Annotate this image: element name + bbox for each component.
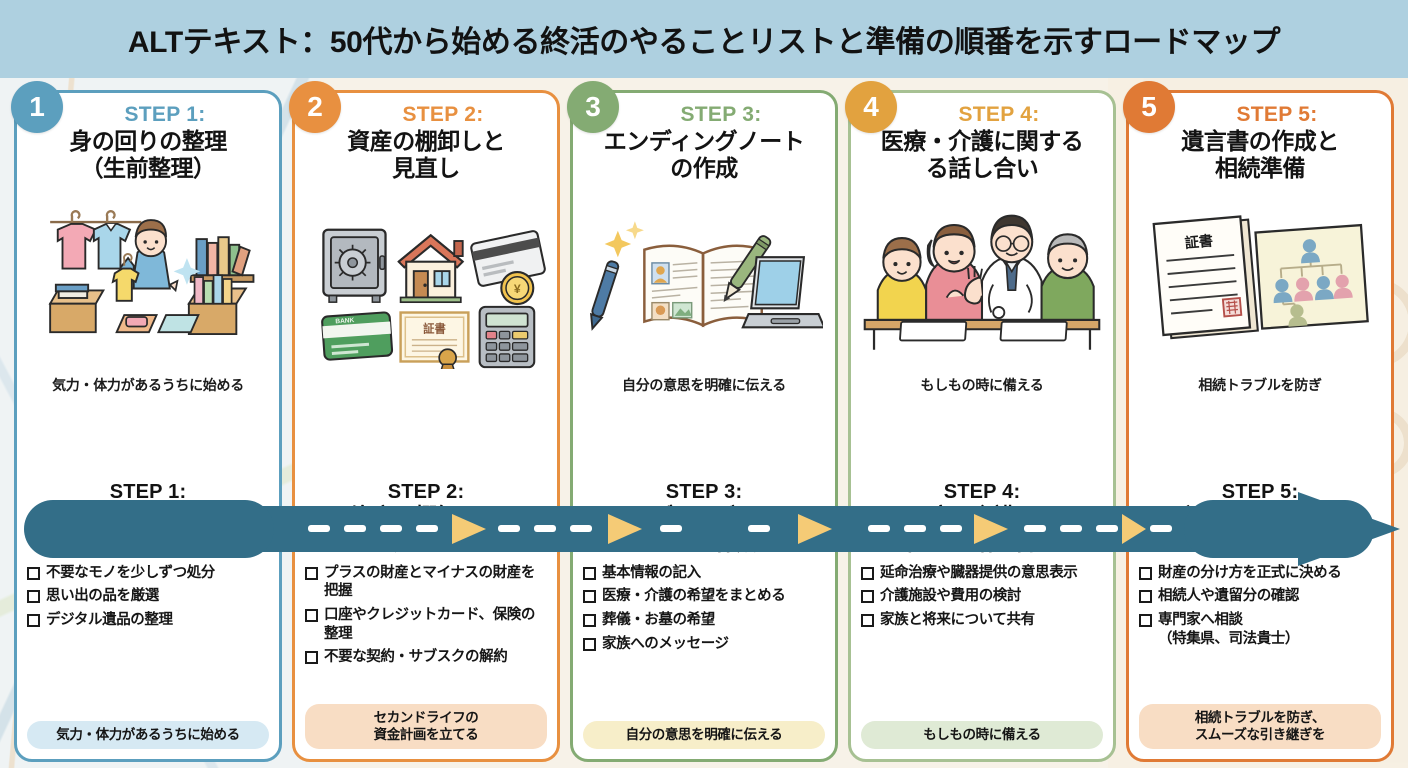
- checkbox-icon[interactable]: [1139, 614, 1152, 627]
- check-label: 介護施設や費用の検討: [880, 587, 1021, 606]
- band-gap-2: [295, 403, 557, 475]
- step-pill-4: もしもの時に備える: [861, 721, 1103, 749]
- timeline-start-small: (NOW): [32, 535, 142, 550]
- check-item[interactable]: デジタル遺品の整理: [27, 611, 269, 630]
- timeline-start-big: 50代: [32, 505, 142, 532]
- checklist-2: プラスの財産とマイナスの財産を把握 口座やクレジットカード、保険の整理 不要な契…: [305, 564, 547, 704]
- step-card-5[interactable]: 5 STEP 5: 遺言書の作成と 相続準備 証書: [1126, 90, 1394, 762]
- checkbox-icon[interactable]: [861, 614, 874, 627]
- step-bottom-4: STEP 4: 医療・介護にに 関する話し合い 延命治療や臓器提供の意思表示 介…: [851, 475, 1113, 759]
- header-banner: ALTテキスト：50代から始める終活のやることリストと準備の順番を示すロードマッ…: [0, 0, 1408, 78]
- checkbox-icon[interactable]: [27, 590, 40, 603]
- check-label: 口座やクレジットカード、保険の整理: [324, 606, 547, 643]
- timeline-start-label: 50代 (NOW): [32, 505, 142, 550]
- step-pill-1: 気力・体力があるうちに始める: [27, 721, 269, 749]
- svg-text:証書: 証書: [1184, 232, 1214, 251]
- step-top-3: STEP 3: エンディングノート の作成: [573, 93, 835, 403]
- checkbox-icon[interactable]: [583, 614, 596, 627]
- bottom-title-2: 資産の棚卸しと 見直し: [305, 504, 547, 556]
- step-pill-2: セカンドライフの 資金計画を立てる: [305, 704, 547, 749]
- bottom-kicker-4: STEP 4:: [861, 481, 1103, 504]
- checklist-5: 財産の分け方を正式に決める 相続人や遺留分の確認 専門家へ相談 （特集県、司法貴…: [1139, 564, 1381, 704]
- checkbox-icon[interactable]: [583, 638, 596, 651]
- check-label: 不要なモノを少しずつ処分: [46, 564, 215, 583]
- step-number-badge-5: 5: [1123, 81, 1175, 133]
- step-title-2: 資産の棚卸しと 見直し: [347, 128, 505, 182]
- check-label: 財産の分け方を正式に決める: [1158, 564, 1341, 583]
- check-item[interactable]: 医療・介護の希望をまとめる: [583, 587, 825, 606]
- step-kicker-4: STEP 4:: [958, 103, 1039, 127]
- checklist-1: 不要なモノを少しずつ処分 思い出の品を厳選 デジタル遺品の整理: [27, 564, 269, 721]
- check-item[interactable]: 相続人や遺留分の確認: [1139, 587, 1381, 606]
- check-item[interactable]: 思い出の品を厳選: [27, 587, 269, 606]
- check-item[interactable]: 葬儀・お墓の希望: [583, 611, 825, 630]
- step-top-1: STEP 1: 身の回りの整理 （生前整理）: [17, 93, 279, 403]
- checkbox-icon[interactable]: [27, 567, 40, 580]
- check-label: 医療・介護の希望をまとめる: [602, 587, 785, 606]
- step-title-3: エンディングノート の作成: [604, 128, 804, 182]
- check-label: 延命治療や臓器提供の意思表示: [880, 564, 1077, 583]
- step-number-badge-3: 3: [567, 81, 619, 133]
- will-inheritance-icon: 証書: [1137, 182, 1383, 375]
- assets-icon: ¥ BANK 証書: [303, 182, 549, 395]
- step-top-4: STEP 4: 医療・介護に関する る話し合い: [851, 93, 1113, 403]
- check-label: 専門家へ相談 （特集県、司法貴士）: [1158, 611, 1299, 648]
- step-card-4[interactable]: 4 STEP 4: 医療・介護に関する る話し合い: [848, 90, 1116, 762]
- checkbox-icon[interactable]: [583, 590, 596, 603]
- step-card-3[interactable]: 3 STEP 3: エンディングノート の作成: [570, 90, 838, 762]
- check-item[interactable]: 家族と将来について共有: [861, 611, 1103, 630]
- step-bottom-2: STEP 2: 資産の棚卸しと 見直し プラスの財産とマイナスの財産を把握 口座…: [295, 475, 557, 759]
- step-number-badge-2: 2: [289, 81, 341, 133]
- checkbox-icon[interactable]: [305, 567, 318, 580]
- step-kicker-3: STEP 3:: [680, 103, 761, 127]
- step-pill-3: 自分の意思を明確に伝える: [583, 721, 825, 749]
- checkbox-icon[interactable]: [305, 651, 318, 664]
- timeline-end-big: 60代〜: [1215, 505, 1335, 532]
- step-card-1[interactable]: 1 STEP 1: 身の回りの整理 （生前整理）: [14, 90, 282, 762]
- bottom-kicker-5: STEP 5:: [1139, 481, 1381, 504]
- checkbox-icon[interactable]: [1139, 567, 1152, 580]
- step-top-5: STEP 5: 遺言書の作成と 相続準備 証書: [1129, 93, 1391, 403]
- check-label: 家族へのメッセージ: [602, 635, 729, 654]
- check-label: デジタル遺品の整理: [46, 611, 173, 630]
- check-label: 基本情報の記入: [602, 564, 701, 583]
- checkbox-icon[interactable]: [1139, 590, 1152, 603]
- timeline-end-label: 60代〜 (FUTURE): [1215, 505, 1335, 550]
- step-card-2[interactable]: 2 STEP 2: 資産の棚卸しと 見直し: [292, 90, 560, 762]
- ending-note-icon: [581, 182, 827, 375]
- bottom-kicker-2: STEP 2:: [305, 481, 547, 504]
- check-item[interactable]: 財産の分け方を正式に決める: [1139, 564, 1381, 583]
- check-item[interactable]: 専門家へ相談 （特集県、司法貴士）: [1139, 611, 1381, 648]
- step-top-caption-1: 気力・体力があるうちに始める: [52, 375, 244, 399]
- page-title: ALTテキスト：50代から始める終活のやることリストと準備の順番を示すロードマッ…: [128, 17, 1280, 61]
- check-item[interactable]: 介護施設や費用の検討: [861, 587, 1103, 606]
- infographic-root: ALTテキスト：50代から始める終活のやることリストと準備の順番を示すロードマッ…: [0, 0, 1408, 768]
- step-top-caption-3: 自分の意思を明確に伝える: [622, 375, 786, 399]
- timeline-middle-label: 準備の順番: [590, 519, 790, 549]
- checklist-4: 延命治療や臓器提供の意思表示 介護施設や費用の検討 家族と将来について共有: [861, 564, 1103, 721]
- check-item[interactable]: 不要な契約・サブスクの解約: [305, 648, 547, 667]
- band-gap-1: [17, 403, 279, 475]
- check-item[interactable]: 基本情報の記入: [583, 564, 825, 583]
- step-top-caption-5: 相続トラブルを防ぎ: [1198, 375, 1321, 399]
- check-item[interactable]: 口座やクレジットカード、保険の整理: [305, 606, 547, 643]
- bottom-kicker-1: STEP 1:: [27, 481, 269, 504]
- step-kicker-2: STEP 2:: [402, 103, 483, 127]
- check-item[interactable]: 不要なモノを少しずつ処分: [27, 564, 269, 583]
- checkbox-icon[interactable]: [27, 614, 40, 627]
- step-top-2: STEP 2: 資産の棚卸しと 見直し: [295, 93, 557, 403]
- step-bottom-3: STEP 3: エンディングノート ートの作成 基本情報の記入 医療・介護の希望…: [573, 475, 835, 759]
- checkbox-icon[interactable]: [583, 567, 596, 580]
- step-title-1: 身の回りの整理 （生前整理）: [69, 128, 227, 182]
- check-label: 思い出の品を厳選: [46, 587, 159, 606]
- step-top-caption-4: もしもの時に備える: [921, 375, 1044, 399]
- family-doctor-icon: [859, 182, 1105, 375]
- svg-text:証書: 証書: [423, 321, 446, 335]
- band-gap-3: [573, 403, 835, 475]
- bottom-title-4: 医療・介護にに 関する話し合い: [861, 504, 1103, 556]
- step-kicker-5: STEP 5:: [1236, 103, 1317, 127]
- step-pill-5: 相続トラブルを防ぎ、 スムーズな引き継ぎを: [1139, 704, 1381, 749]
- band-gap-5: [1129, 403, 1391, 475]
- bottom-kicker-3: STEP 3:: [583, 481, 825, 504]
- check-label: 葬儀・お墓の希望: [602, 611, 715, 630]
- steps-container: 1 STEP 1: 身の回りの整理 （生前整理）: [0, 78, 1408, 768]
- step-title-4: 医療・介護に関する る話し合い: [881, 128, 1084, 182]
- checklist-3: 基本情報の記入 医療・介護の希望をまとめる 葬儀・お墓の希望 家族へのメッセージ: [583, 564, 825, 721]
- check-label: プラスの財産とマイナスの財産を把握: [324, 564, 547, 601]
- timeline-end-small: (FUTURE): [1215, 535, 1335, 550]
- check-item[interactable]: 家族へのメッセージ: [583, 635, 825, 654]
- svg-text:¥: ¥: [514, 281, 521, 295]
- checkbox-icon[interactable]: [861, 567, 874, 580]
- checkbox-icon[interactable]: [305, 609, 318, 622]
- step-kicker-1: STEP 1:: [124, 103, 205, 127]
- check-item[interactable]: プラスの財産とマイナスの財産を把握: [305, 564, 547, 601]
- band-gap-4: [851, 403, 1113, 475]
- declutter-icon: [25, 182, 271, 375]
- svg-text:BANK: BANK: [335, 317, 355, 325]
- check-item[interactable]: 延命治療や臓器提供の意思表示: [861, 564, 1103, 583]
- check-label: 家族と将来について共有: [880, 611, 1035, 630]
- step-title-5: 遺言書の作成と 相続準備: [1181, 128, 1339, 182]
- checkbox-icon[interactable]: [861, 590, 874, 603]
- check-label: 不要な契約・サブスクの解約: [324, 648, 507, 667]
- step-number-badge-4: 4: [845, 81, 897, 133]
- step-number-badge-1: 1: [11, 81, 63, 133]
- check-label: 相続人や遺留分の確認: [1158, 587, 1299, 606]
